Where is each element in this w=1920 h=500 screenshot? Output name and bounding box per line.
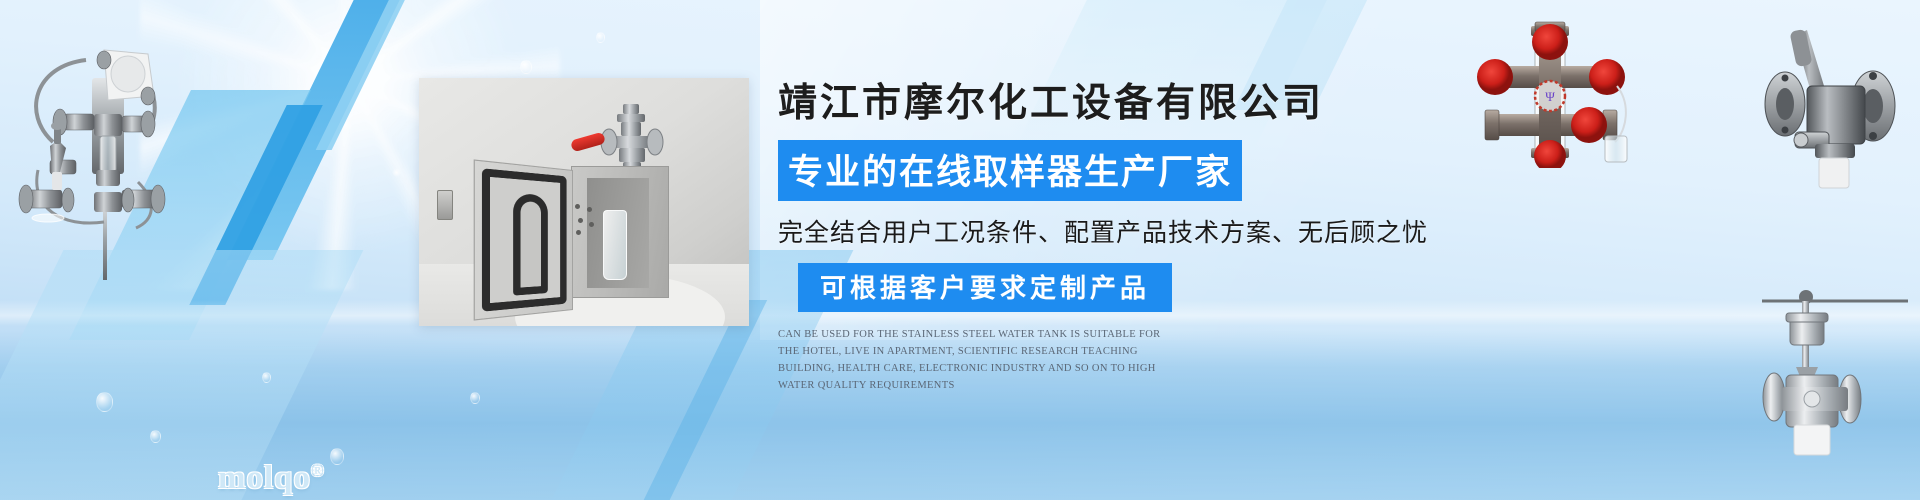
product-photo: [419, 78, 749, 326]
cross-valve-illustration: Ψ: [1455, 18, 1645, 168]
sub-headline: 完全结合用户工况条件、配置产品技术方案、无后顾之忧: [778, 213, 1418, 249]
company-name: 靖江市摩尔化工设备有限公司: [778, 72, 1418, 128]
water-droplet-icon: [150, 430, 161, 443]
photo-sample-bottle: [603, 210, 627, 280]
brand-watermark: molqo®: [218, 460, 324, 497]
water-droplet-icon: [330, 448, 344, 465]
promo-banner: 靖江市摩尔化工设备有限公司 专业的在线取样器生产厂家 完全结合用户工况条件、配置…: [0, 0, 1920, 500]
water-droplet-icon: [262, 372, 271, 383]
water-droplet-icon: [470, 392, 480, 404]
photo-cabinet-door: [474, 159, 573, 320]
photo-cabinet-holes: [575, 204, 597, 236]
registered-mark: ®: [311, 461, 324, 480]
water-droplet-icon: [520, 60, 532, 74]
lever-valve-illustration: [1755, 14, 1915, 199]
english-description: CAN BE USED FOR THE STAINLESS STEEL WATE…: [778, 326, 1178, 394]
headline-primary: 专业的在线取样器生产厂家: [778, 140, 1242, 201]
left-device-illustration: [8, 22, 188, 282]
brand-name: molqo: [218, 460, 311, 496]
lens-flare-dot-icon: [392, 168, 401, 177]
headline-secondary: 可根据客户要求定制产品: [798, 263, 1172, 312]
photo-valve-head-icon: [595, 102, 669, 174]
headline-text-block: 靖江市摩尔化工设备有限公司 专业的在线取样器生产厂家 完全结合用户工况条件、配置…: [778, 72, 1418, 394]
stem-valve-illustration: [1760, 275, 1910, 460]
photo-door-window: [513, 193, 548, 296]
water-droplet-icon: [596, 32, 605, 43]
water-droplet-icon: [96, 392, 113, 412]
svg-text:Ψ: Ψ: [1545, 89, 1555, 104]
photo-door-latch: [437, 190, 453, 220]
